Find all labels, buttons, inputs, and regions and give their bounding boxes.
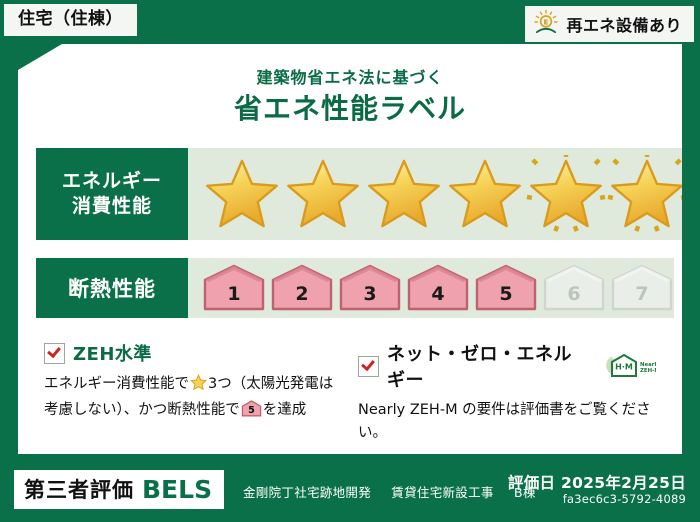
nze-check-description: Nearly ZEH-M の要件は評価書をご覧ください。: [358, 399, 656, 446]
star-icon: [202, 155, 282, 233]
insulation-level-number: 2: [270, 283, 334, 305]
building-type-tag: 住宅（住棟）: [4, 4, 137, 36]
project-info: 金剛院丁社宅跡地開発 賃貸住宅新設工事 B棟: [243, 482, 552, 501]
insulation-level-number: 1: [202, 283, 266, 305]
evaluation-id: fa3ec6c3-5792-4089: [563, 492, 686, 506]
insulation-level-6: 6: [542, 264, 606, 312]
evaluation-date: 評価日 2025年2月25日: [508, 471, 686, 493]
insulation-level-1: 1: [202, 264, 266, 312]
insulation-level-number: 4: [406, 283, 470, 305]
energy-performance-row: エネルギー 消費性能: [36, 148, 664, 240]
renewable-equipment-badge: E 再エネ設備あり: [525, 6, 694, 42]
star-icon: [283, 155, 363, 233]
energy-star-rating: [188, 148, 687, 240]
star-icon: [445, 155, 525, 233]
insulation-performance-label: 断熱性能: [36, 258, 188, 318]
svg-text:5: 5: [248, 406, 255, 417]
svg-text:ZEH-M: ZEH-M: [640, 368, 656, 374]
inline-house-level-icon: 5: [241, 400, 262, 425]
insulation-level-4: 4: [406, 264, 470, 312]
solar-sun-icon: E: [533, 9, 559, 39]
label-footer: 第三者評価 BELS 金剛院丁社宅跡地開発 賃貸住宅新設工事 B棟 評価日 20…: [0, 460, 700, 522]
insulation-level-number: 6: [542, 283, 606, 305]
insulation-level-5: 5: [474, 264, 538, 312]
label-title: 省エネ性能ラベル: [18, 87, 682, 127]
zeh-m-logo-icon: H·M Nearly ZEH-M: [602, 351, 656, 381]
insulation-level-2: 2: [270, 264, 334, 312]
zeh-standard-check: ZEH水準 エネルギー消費性能で3つ（太陽光発電は考慮しない）、かつ断熱性能で5…: [44, 340, 342, 446]
project-work: 賃貸住宅新設工事: [391, 485, 493, 500]
nze-checkbox-checked-icon: [358, 356, 379, 377]
label-card: 建築物省エネ法に基づく 省エネ性能ラベル 太陽光発電(自家消費)分 エネルギー …: [18, 44, 682, 454]
solar-star-icon: [607, 155, 687, 233]
insulation-level-number: 5: [474, 283, 538, 305]
solar-star-icon: [526, 155, 606, 233]
insulation-performance-row: 断熱性能 1234567: [36, 258, 664, 318]
bels-jp-label: 第三者評価: [24, 474, 134, 504]
energy-performance-label: エネルギー 消費性能: [36, 148, 188, 240]
renewable-badge-label: 再エネ設備あり: [566, 12, 682, 36]
svg-text:E: E: [544, 18, 549, 27]
bels-mark: 第三者評価 BELS: [14, 470, 224, 509]
insulation-level-number: 7: [610, 283, 674, 305]
criteria-checks: ZEH水準 エネルギー消費性能で3つ（太陽光発電は考慮しない）、かつ断熱性能で5…: [44, 340, 656, 446]
nze-check-title: ネット・ゼロ・エネルギー: [387, 340, 590, 392]
zeh-checkbox-checked-icon: [44, 343, 65, 364]
svg-text:H·M: H·M: [615, 363, 633, 372]
label-subtitle: 建築物省エネ法に基づく: [18, 64, 682, 88]
zeh-check-description: エネルギー消費性能で3つ（太陽光発電は考慮しない）、かつ断熱性能で5を達成: [44, 373, 342, 426]
zeh-check-title: ZEH水準: [73, 340, 152, 366]
insulation-level-scale: 1234567: [188, 258, 674, 318]
project-name: 金剛院丁社宅跡地開発: [243, 485, 371, 500]
insulation-level-7: 7: [610, 264, 674, 312]
bels-en-label: BELS: [142, 475, 212, 504]
inline-star-icon: [190, 374, 207, 399]
star-icon: [364, 155, 444, 233]
net-zero-energy-check: ネット・ゼロ・エネルギー H·M Nearly ZEH-M: [358, 340, 656, 446]
bels-energy-label: 住宅（住棟） E 再エネ設備あり 建築物省エ: [0, 0, 700, 522]
insulation-level-3: 3: [338, 264, 402, 312]
insulation-level-number: 3: [338, 283, 402, 305]
